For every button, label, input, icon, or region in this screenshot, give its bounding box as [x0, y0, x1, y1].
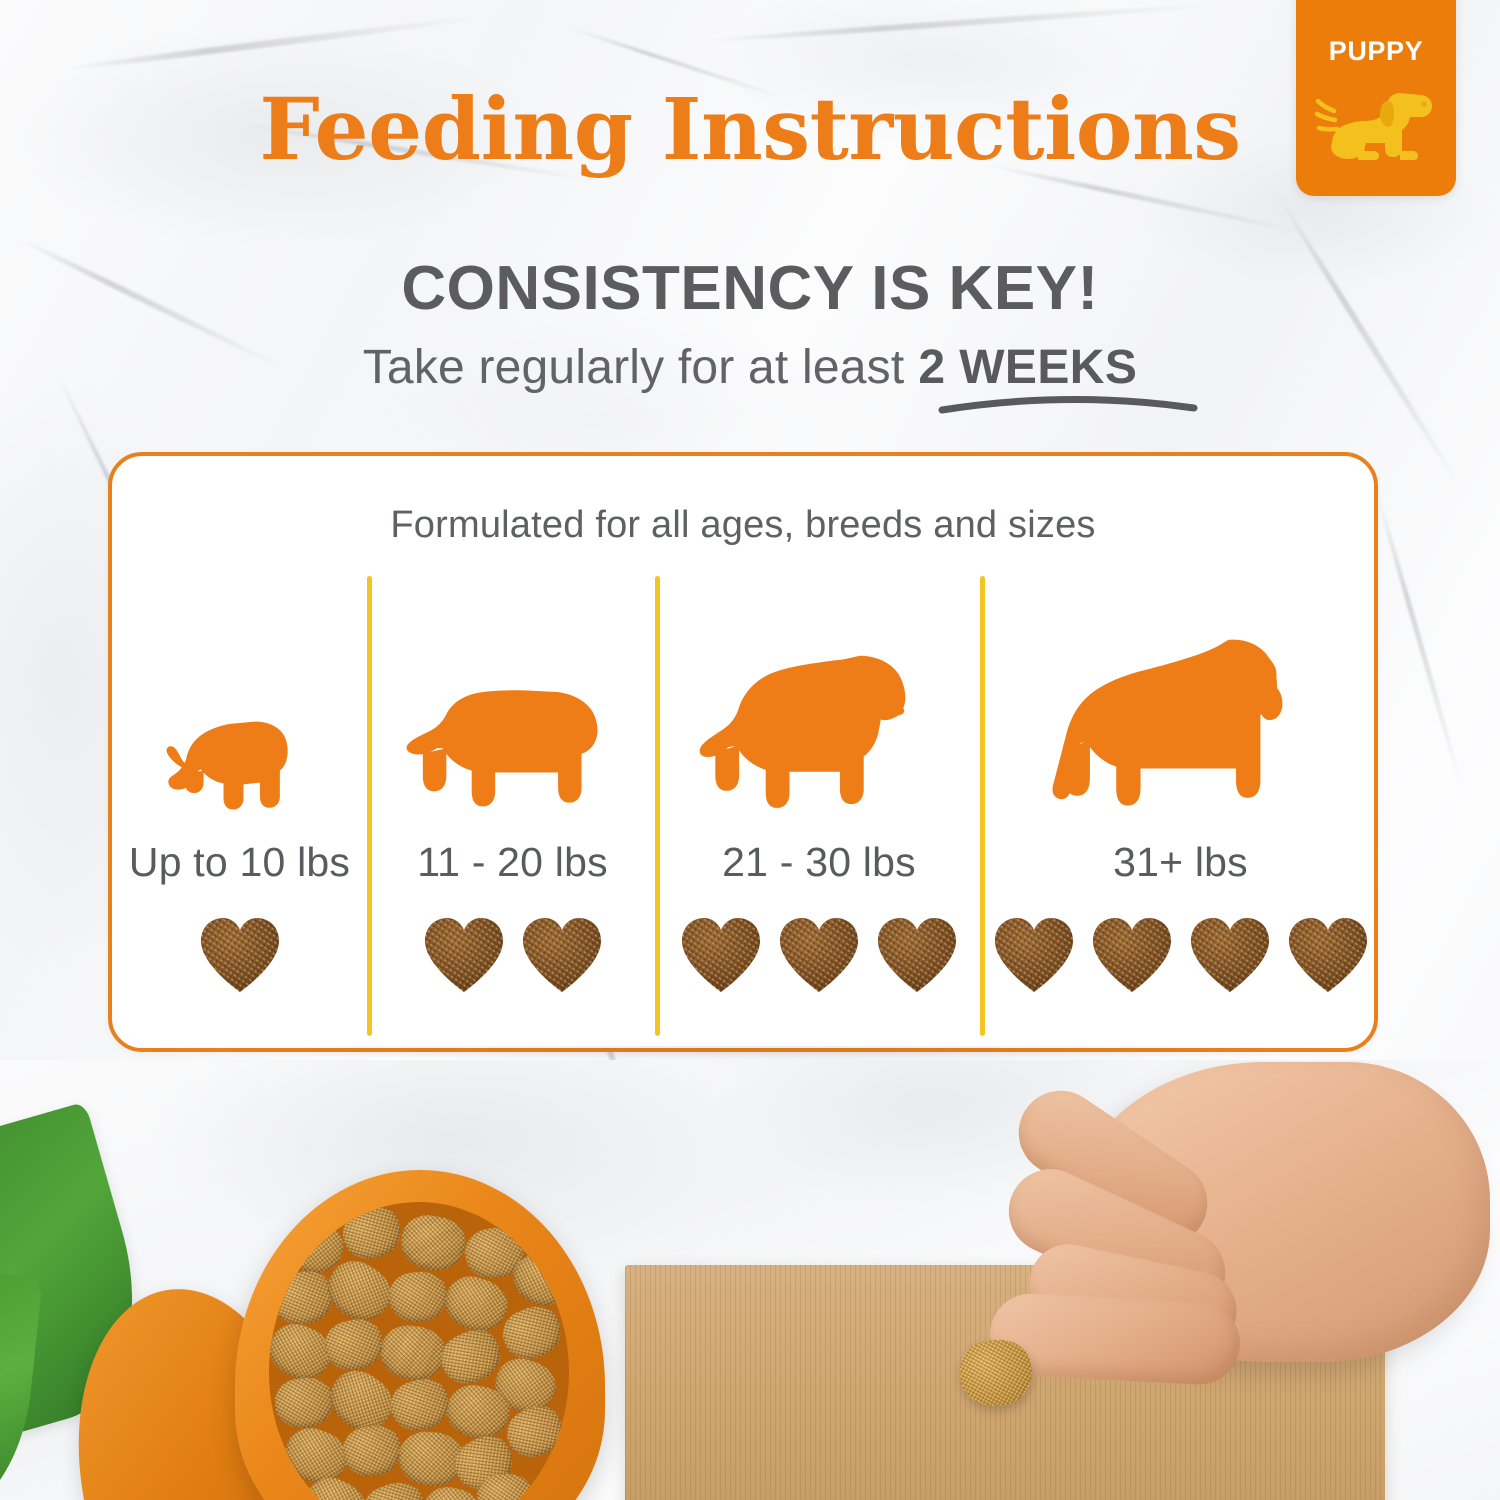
size-column-3: 21 - 30 lbs: [658, 596, 980, 1036]
card-shadow: [112, 1046, 1374, 1060]
kibble-icon: [1285, 913, 1371, 995]
weight-label-1: Up to 10 lbs: [129, 842, 350, 883]
kibble-icon: [519, 913, 605, 995]
page-subtitle: CONSISTENCY IS KEY!: [0, 258, 1500, 320]
kibble-icon: [421, 913, 507, 995]
kibble-icon: [197, 913, 283, 995]
kibble-icon: [874, 913, 960, 995]
kibble-icon: [1187, 913, 1273, 995]
kibble-icon: [1089, 913, 1175, 995]
sitting-puppy-icon: [1314, 71, 1440, 171]
dog-silhouette-medium-icon: [699, 596, 939, 826]
size-column-1: Up to 10 lbs: [112, 596, 367, 1036]
puppy-badge-label: PUPPY: [1296, 36, 1456, 67]
feeding-chart-card: Formulated for all ages, breeds and size…: [108, 452, 1378, 1052]
kibble-icon: [776, 913, 862, 995]
kibble-icon: [991, 913, 1077, 995]
kibble-icon: [678, 913, 764, 995]
kibble-row-2: [421, 913, 605, 995]
tagline-lead-text: Take regularly for at least: [363, 341, 905, 394]
kibble-row-1: [197, 913, 283, 995]
weight-label-3: 21 - 30 lbs: [722, 842, 916, 883]
tagline: Take regularly for at least2 WEEKS: [0, 344, 1500, 392]
kibble-row-4: [991, 913, 1371, 995]
weight-label-2: 11 - 20 lbs: [417, 842, 608, 883]
kibble-row-3: [678, 913, 960, 995]
dog-silhouette-small-icon: [405, 596, 621, 826]
card-subtitle: Formulated for all ages, breeds and size…: [112, 504, 1374, 547]
product-photo: [0, 1060, 1500, 1500]
tagline-strong-text: 2 WEEKS: [918, 341, 1137, 394]
puppy-badge: PUPPY: [1296, 0, 1456, 196]
size-column-2: 11 - 20 lbs: [370, 596, 655, 1036]
dog-silhouette-xsmall-icon: [151, 596, 329, 826]
hand: [950, 1060, 1500, 1452]
weight-label-4: 31+ lbs: [1113, 842, 1248, 883]
page-title: Feeding Instructions: [0, 88, 1500, 173]
underline-swoosh-icon: [938, 392, 1198, 414]
dog-silhouette-large-icon: [1047, 596, 1315, 826]
bowl-interior: [269, 1202, 569, 1500]
size-column-4: 31+ lbs: [983, 596, 1378, 1036]
